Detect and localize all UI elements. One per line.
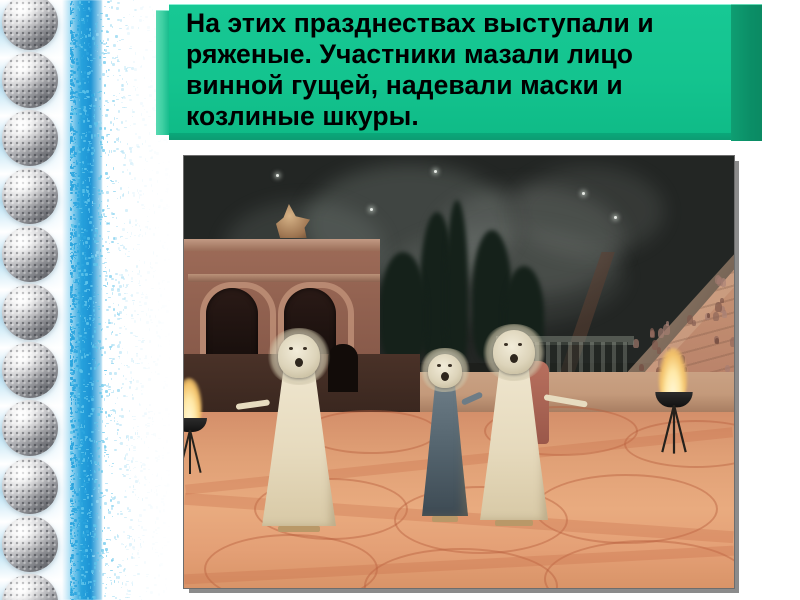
caption-banner: На этих празднествах выступали и ряженые… [156,4,762,140]
banner-bottom-bevel [169,133,731,140]
audience-figure [717,277,723,287]
actor-platform-boots [278,526,319,532]
cypress-tree [380,252,426,362]
mask-eye-left [437,364,441,367]
actor-robe [262,364,336,526]
caption-text: На этих празднествах выступали и ряженые… [186,8,726,132]
decorative-sphere [2,458,58,514]
star [370,208,373,211]
mask-mouth [295,358,303,367]
actor-center [422,352,468,522]
mask-mouth [510,354,518,363]
decorative-sphere [2,110,58,166]
mask-eye-right [448,364,452,367]
skene-cornice-lower [188,274,380,282]
audience-figure [713,312,719,321]
caption-line-1: На этих празднествах выступали и [186,8,726,39]
decorative-sphere [2,168,58,224]
audience-figure [687,315,693,324]
audience-figure [658,328,665,338]
star [434,170,437,173]
actor-theatrical-mask [278,334,320,378]
actor-right [480,328,548,526]
speckle-field [70,0,170,600]
actor-theatrical-mask [493,330,535,374]
decorative-sphere [2,400,58,456]
audience-figure [639,364,644,372]
brazier-bowl [183,418,207,432]
brazier-right [652,392,696,469]
audience-figure [715,302,722,312]
audience-figure [720,298,724,303]
actor-left [262,332,336,532]
mask-eye-left [289,347,293,350]
decorative-sphere [2,226,58,282]
caption-line-4: козлиные шкуры. [186,101,726,132]
brazier-left [183,418,210,488]
banner-left-bevel [156,10,170,135]
caption-line-2: ряженые. Участники мазали лицо [186,39,726,70]
actor-platform-boots [432,516,458,522]
caption-line-3: винной гущей, надевали маски и [186,70,726,101]
decorative-sphere [2,284,58,340]
star [276,174,279,177]
actor-robe [422,376,468,516]
mask-mouth [441,372,449,381]
star [614,216,617,219]
audience-figure [722,311,727,318]
audience-figure [734,389,735,394]
audience-figure [650,328,654,335]
decorative-sphere [2,52,58,108]
audience-figure [715,338,719,344]
decorative-sidebar [0,0,170,600]
banner-right-bevel [731,4,762,141]
decorative-sphere [2,516,58,572]
audience-figure [730,337,735,347]
decorative-sphere [2,342,58,398]
slide: На этих празднествах выступали и ряженые… [0,0,800,600]
cypress-tree [446,200,468,368]
ancient-greek-theatre-illustration [183,155,735,589]
mask-eye-left [504,343,508,346]
star [582,192,585,195]
skene-cornice-upper [184,239,380,251]
actor-platform-boots [495,520,533,526]
